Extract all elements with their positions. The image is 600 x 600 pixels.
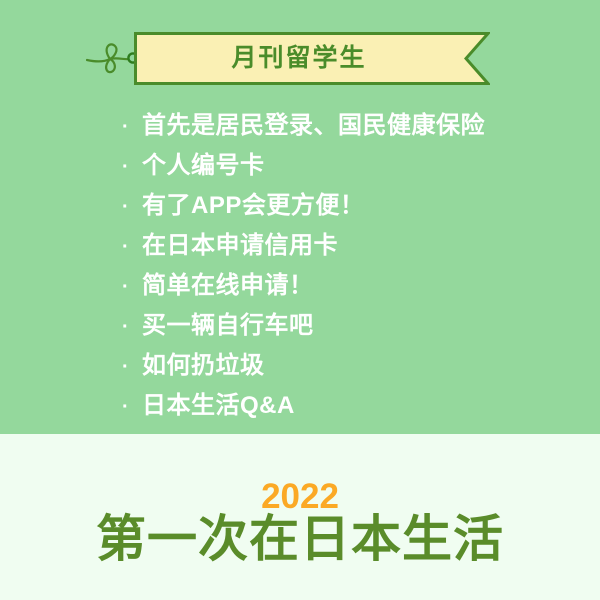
list-item: · 个人编号卡: [122, 146, 582, 186]
banner: 月刊留学生: [134, 32, 490, 85]
year-label: 2022: [0, 479, 600, 514]
list-item-label: 个人编号卡: [142, 146, 265, 186]
list-item-label: 简单在线申请！: [142, 266, 314, 306]
bullet-dot-icon: ·: [122, 267, 142, 307]
list-item: · 日本生活Q&A: [122, 386, 582, 426]
list-item: · 有了APP会更方便！: [122, 186, 582, 226]
list-item-label: 如何扔垃圾: [142, 346, 265, 386]
list-item-label: 买一辆自行车吧: [142, 306, 314, 346]
bullet-dot-icon: ·: [122, 227, 142, 267]
list-item: · 首先是居民登录、国民健康保险: [122, 106, 582, 146]
list-item: · 买一辆自行车吧: [122, 306, 582, 346]
list-item: · 如何扔垃圾: [122, 346, 582, 386]
bullet-dot-icon: ·: [122, 107, 142, 147]
list-item-label: 首先是居民登录、国民健康保险: [142, 106, 485, 146]
banner-title: 月刊留学生: [134, 32, 464, 85]
list-item-label: 有了APP会更方便！: [142, 186, 364, 226]
list-item-label: 日本生活Q&A: [142, 386, 295, 426]
bullet-dot-icon: ·: [122, 147, 142, 187]
poster-root: 月刊留学生 · 首先是居民登录、国民健康保险 · 个人编号卡 · 有了APP会更…: [0, 0, 600, 600]
list-item-label: 在日本申请信用卡: [142, 226, 338, 266]
list-item: · 简单在线申请！: [122, 266, 582, 306]
bullet-dot-icon: ·: [122, 307, 142, 347]
page-title: 第一次在日本生活: [0, 513, 600, 566]
bullet-dot-icon: ·: [122, 347, 142, 387]
bullet-dot-icon: ·: [122, 187, 142, 227]
topic-list: · 首先是居民登录、国民健康保险 · 个人编号卡 · 有了APP会更方便！ · …: [122, 106, 582, 426]
list-item: · 在日本申请信用卡: [122, 226, 582, 266]
bullet-dot-icon: ·: [122, 387, 142, 427]
